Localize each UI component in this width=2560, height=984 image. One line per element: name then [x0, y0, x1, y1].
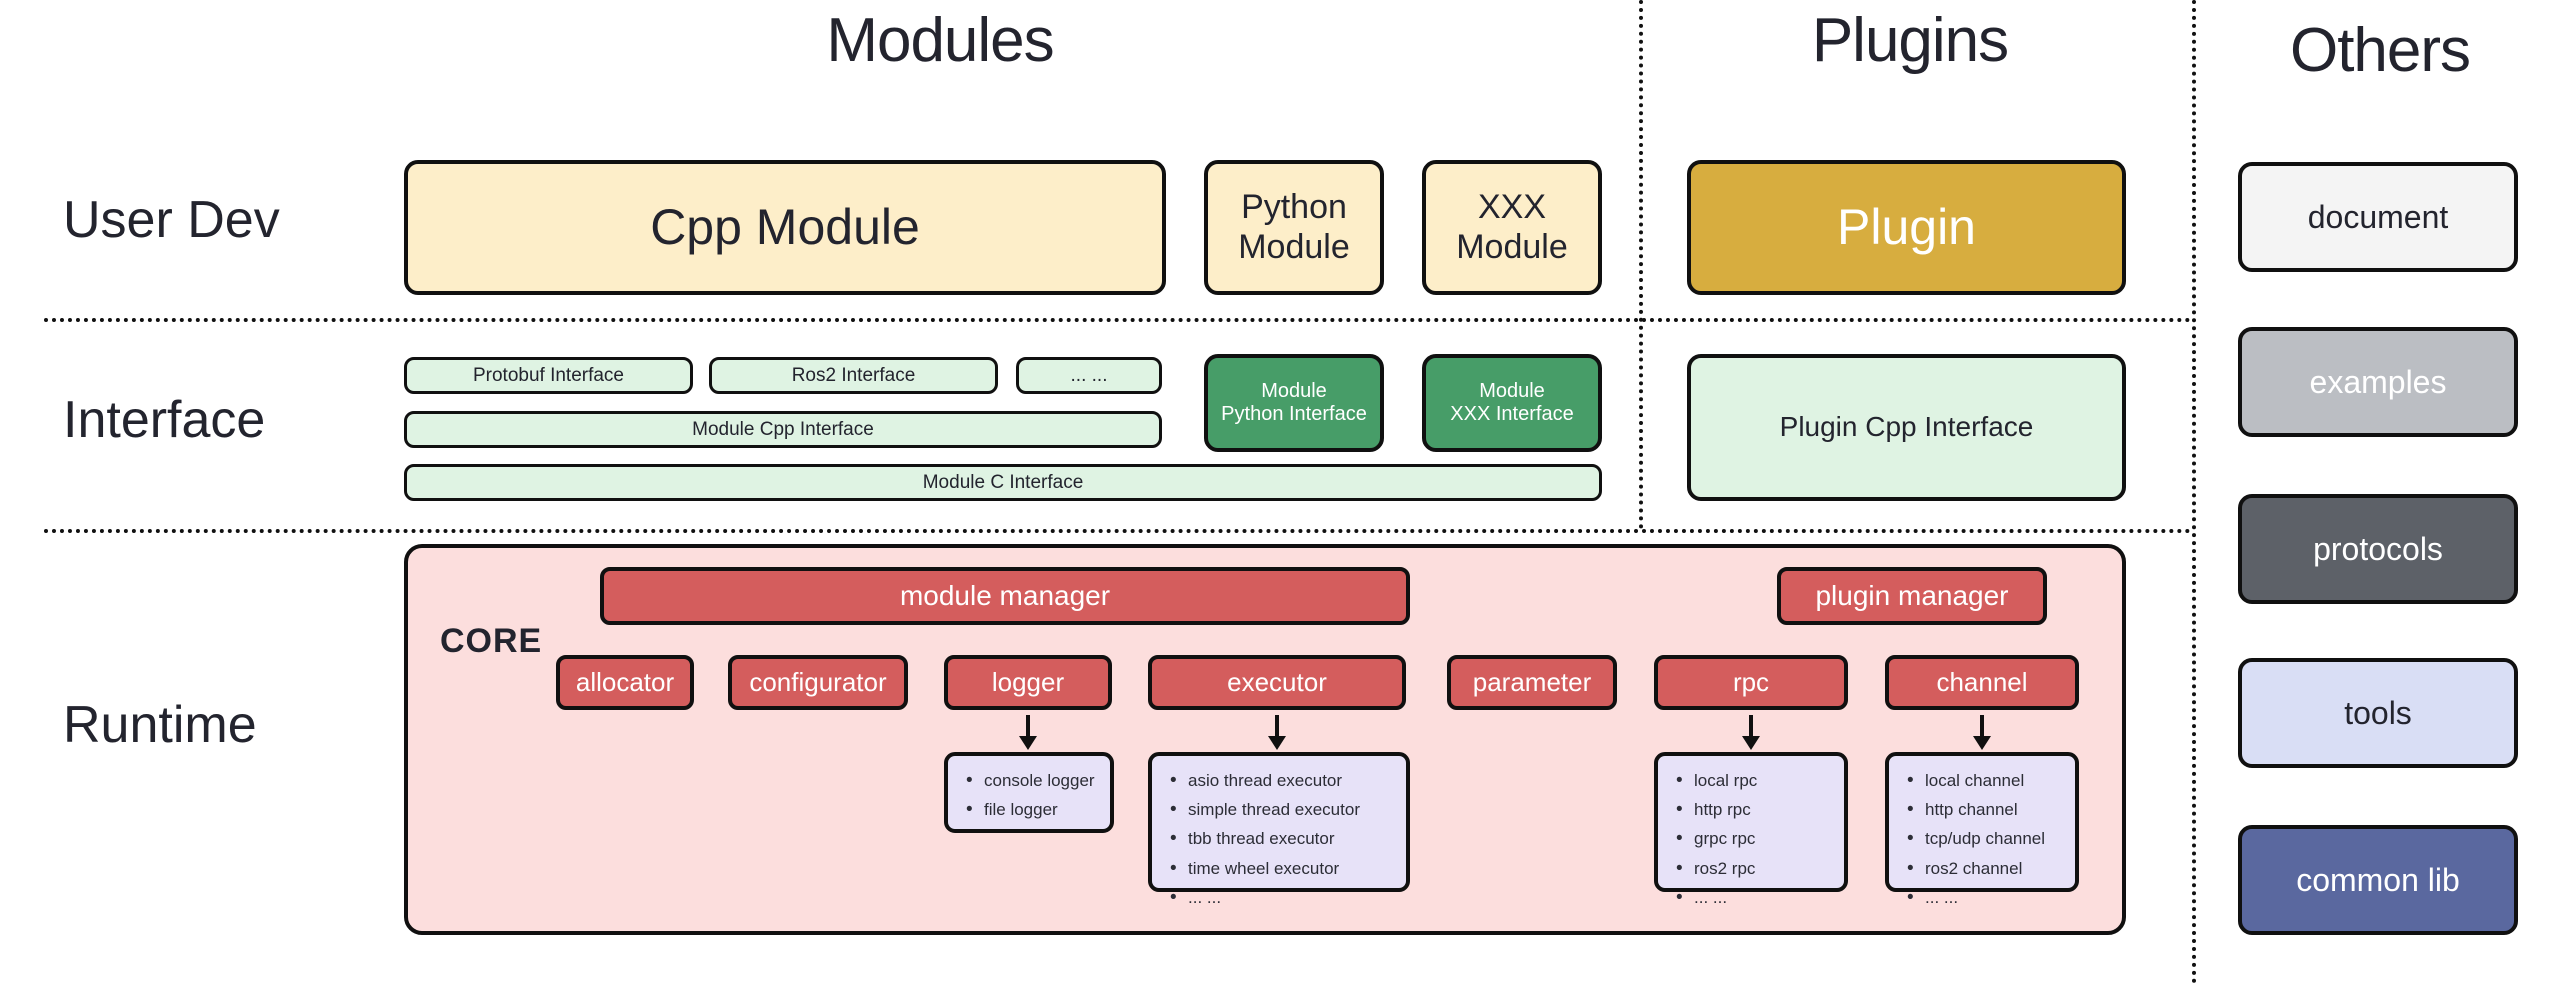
separator-plugins-others	[2192, 0, 2196, 984]
box-logger[interactable]: logger	[944, 655, 1112, 710]
box-protobuf-interface[interactable]: Protobuf Interface	[404, 357, 693, 394]
detail-box-executor: asio thread executor simple thread execu…	[1148, 752, 1410, 892]
column-heading-modules: Modules	[740, 5, 1140, 76]
separator-modules-plugins	[1639, 0, 1643, 529]
box-plugin-manager[interactable]: plugin manager	[1777, 567, 2047, 625]
column-heading-plugins: Plugins	[1710, 5, 2110, 76]
row-label-user-dev: User Dev	[63, 190, 280, 250]
list-item: ... ...	[1905, 883, 2063, 912]
arrow-logger-down	[1015, 714, 1041, 752]
list-item: ros2 rpc	[1674, 854, 1832, 883]
list-item: tbb thread executor	[1168, 824, 1394, 853]
list-item: asio thread executor	[1168, 766, 1394, 795]
detail-box-channel: local channel http channel tcp/udp chann…	[1885, 752, 2079, 892]
detail-list-rpc: local rpc http rpc grpc rpc ros2 rpc ...…	[1674, 766, 1832, 912]
box-document[interactable]: document	[2238, 162, 2518, 272]
detail-box-logger: console logger file logger	[944, 752, 1114, 833]
box-allocator[interactable]: allocator	[556, 655, 694, 710]
box-rpc[interactable]: rpc	[1654, 655, 1848, 710]
list-item: ... ...	[1674, 883, 1832, 912]
list-item: tcp/udp channel	[1905, 824, 2063, 853]
row-label-runtime: Runtime	[63, 695, 257, 755]
core-label: CORE	[440, 622, 542, 661]
list-item: time wheel executor	[1168, 854, 1394, 883]
box-module-manager[interactable]: module manager	[600, 567, 1410, 625]
detail-list-channel: local channel http channel tcp/udp chann…	[1905, 766, 2063, 912]
box-module-cpp-interface[interactable]: Module Cpp Interface	[404, 411, 1162, 448]
separator-interface-runtime	[44, 529, 2192, 533]
box-plugin[interactable]: Plugin	[1687, 160, 2126, 295]
list-item: console logger	[964, 766, 1098, 795]
detail-list-logger: console logger file logger	[964, 766, 1098, 824]
box-module-python-interface[interactable]: Module Python Interface	[1204, 354, 1384, 452]
list-item: simple thread executor	[1168, 795, 1394, 824]
box-xxx-module[interactable]: XXX Module	[1422, 160, 1602, 295]
detail-list-executor: asio thread executor simple thread execu…	[1168, 766, 1394, 912]
list-item: ... ...	[1168, 883, 1394, 912]
box-tools[interactable]: tools	[2238, 658, 2518, 768]
list-item: file logger	[964, 795, 1098, 824]
arrow-channel-down	[1969, 714, 1995, 752]
list-item: http rpc	[1674, 795, 1832, 824]
detail-box-rpc: local rpc http rpc grpc rpc ros2 rpc ...…	[1654, 752, 1848, 892]
box-ros2-interface[interactable]: Ros2 Interface	[709, 357, 998, 394]
box-common-lib[interactable]: common lib	[2238, 825, 2518, 935]
box-examples[interactable]: examples	[2238, 327, 2518, 437]
box-protocols[interactable]: protocols	[2238, 494, 2518, 604]
box-module-xxx-interface[interactable]: Module XXX Interface	[1422, 354, 1602, 452]
box-parameter[interactable]: parameter	[1447, 655, 1617, 710]
box-executor[interactable]: executor	[1148, 655, 1406, 710]
arrow-executor-down	[1264, 714, 1290, 752]
row-label-interface: Interface	[63, 390, 265, 450]
column-heading-others: Others	[2210, 15, 2550, 86]
box-module-c-interface[interactable]: Module C Interface	[404, 464, 1602, 501]
box-channel[interactable]: channel	[1885, 655, 2079, 710]
list-item: local channel	[1905, 766, 2063, 795]
box-cpp-module[interactable]: Cpp Module	[404, 160, 1166, 295]
box-plugin-cpp-interface[interactable]: Plugin Cpp Interface	[1687, 354, 2126, 501]
box-python-module[interactable]: Python Module	[1204, 160, 1384, 295]
architecture-diagram: Modules Plugins Others User Dev Interfac…	[0, 0, 2560, 984]
box-configurator[interactable]: configurator	[728, 655, 908, 710]
list-item: local rpc	[1674, 766, 1832, 795]
separator-userdev-interface	[44, 318, 2192, 322]
list-item: ros2 channel	[1905, 854, 2063, 883]
list-item: http channel	[1905, 795, 2063, 824]
box-other-interface[interactable]: ... ...	[1016, 357, 1162, 394]
arrow-rpc-down	[1738, 714, 1764, 752]
list-item: grpc rpc	[1674, 824, 1832, 853]
